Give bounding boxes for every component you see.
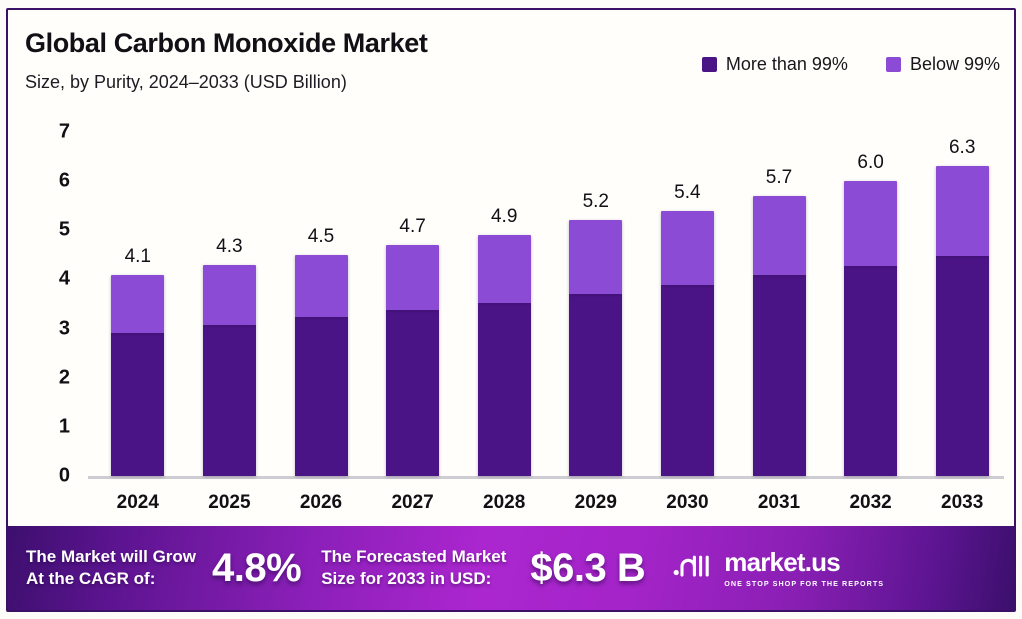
market-us-logo[interactable]: market.us ONE STOP SHOP FOR THE REPORTS — [673, 549, 884, 588]
bar-value-label: 4.3 — [216, 236, 242, 258]
bar-segment-below-99[interactable] — [386, 245, 439, 310]
y-axis-tick-label: 0 — [59, 465, 70, 488]
forecast-caption-line1: The Forecasted Market — [321, 546, 506, 568]
summary-banner: The Market will Grow At the CAGR of: 4.8… — [8, 526, 1014, 610]
bar-value-label: 5.7 — [766, 167, 792, 189]
x-axis-tick-label: 2026 — [300, 492, 342, 514]
y-axis-tick-label: 5 — [59, 219, 70, 242]
cagr-value: 4.8% — [212, 546, 301, 591]
y-axis-tick-label: 7 — [59, 121, 70, 144]
infographic-root: Global Carbon Monoxide Market Size, by P… — [0, 0, 1022, 619]
forecast-caption-line2: Size for 2033 in USD: — [321, 568, 506, 590]
market-us-wordmark: market.us ONE STOP SHOP FOR THE REPORTS — [724, 549, 884, 588]
legend-swatch-icon — [702, 57, 717, 72]
bar-segment-more-than-99[interactable] — [111, 333, 164, 476]
bar-segment-below-99[interactable] — [569, 220, 622, 293]
x-axis-tick-label: 2031 — [758, 492, 800, 514]
x-axis-tick-label: 2024 — [117, 492, 159, 514]
x-axis-tick-label: 2028 — [483, 492, 525, 514]
legend-label: More than 99% — [726, 54, 848, 75]
bar-segment-more-than-99[interactable] — [753, 275, 806, 476]
y-axis: 01234567 — [8, 102, 88, 520]
cagr-caption: The Market will Grow At the CAGR of: — [26, 546, 196, 590]
y-axis-tick-label: 6 — [59, 170, 70, 193]
bar-value-label: 4.9 — [491, 206, 517, 228]
bar-segment-below-99[interactable] — [203, 265, 256, 325]
chart-card: Global Carbon Monoxide Market Size, by P… — [6, 8, 1016, 612]
x-axis-tick-label: 2025 — [208, 492, 250, 514]
chart-subtitle: Size, by Purity, 2024–2033 (USD Billion) — [25, 72, 347, 93]
x-axis-tick-label: 2032 — [849, 492, 891, 514]
cagr-caption-line1: The Market will Grow — [26, 546, 196, 568]
bar-segment-below-99[interactable] — [844, 181, 897, 266]
chart-title: Global Carbon Monoxide Market — [25, 28, 427, 59]
x-axis-tick-label: 2029 — [575, 492, 617, 514]
plot-area: 01234567 4.120244.320254.520264.720274.9… — [8, 102, 1014, 520]
y-axis-tick-label: 4 — [59, 268, 70, 291]
bar-value-label: 4.5 — [308, 226, 334, 248]
bar-value-label: 6.0 — [857, 152, 883, 174]
chart-header: Global Carbon Monoxide Market Size, by P… — [8, 10, 1014, 102]
bar-column[interactable]: 6.32033 — [936, 166, 989, 476]
forecast-caption: The Forecasted Market Size for 2033 in U… — [321, 546, 506, 590]
y-axis-tick-label: 3 — [59, 317, 70, 340]
bar-column[interactable]: 5.72031 — [753, 196, 806, 476]
bar-column[interactable]: 4.72027 — [386, 245, 439, 476]
bar-column[interactable]: 4.92028 — [478, 235, 531, 476]
bar-segment-more-than-99[interactable] — [844, 266, 897, 476]
bar-column[interactable]: 4.52026 — [295, 255, 348, 476]
bar-segment-below-99[interactable] — [111, 275, 164, 333]
bar-segment-below-99[interactable] — [295, 255, 348, 317]
cagr-caption-line2: At the CAGR of: — [26, 568, 196, 590]
bar-segment-below-99[interactable] — [661, 211, 714, 286]
bar-segment-more-than-99[interactable] — [936, 256, 989, 476]
bars-container: 4.120244.320254.520264.720274.920285.220… — [88, 102, 1004, 520]
legend-item: More than 99% — [702, 54, 848, 75]
bar-segment-more-than-99[interactable] — [569, 294, 622, 476]
bar-value-label: 6.3 — [949, 137, 975, 159]
bar-column[interactable]: 6.02032 — [844, 181, 897, 476]
x-axis-tick-label: 2030 — [666, 492, 708, 514]
x-axis-tick-label: 2027 — [391, 492, 433, 514]
bar-column[interactable]: 4.12024 — [111, 275, 164, 476]
bar-value-label: 5.2 — [583, 191, 609, 213]
bar-segment-more-than-99[interactable] — [478, 303, 531, 476]
bar-value-label: 4.7 — [399, 216, 425, 238]
bar-column[interactable]: 5.22029 — [569, 220, 622, 476]
bar-segment-below-99[interactable] — [478, 235, 531, 302]
bar-segment-more-than-99[interactable] — [661, 285, 714, 476]
x-axis-tick-label: 2033 — [941, 492, 983, 514]
bar-segment-more-than-99[interactable] — [386, 310, 439, 476]
legend-label: Below 99% — [910, 54, 1000, 75]
bar-segment-more-than-99[interactable] — [295, 317, 348, 476]
y-axis-tick-label: 2 — [59, 366, 70, 389]
bar-segment-below-99[interactable] — [936, 166, 989, 256]
y-axis-tick-label: 1 — [59, 415, 70, 438]
bar-segment-below-99[interactable] — [753, 196, 806, 275]
bar-column[interactable]: 5.42030 — [661, 211, 714, 476]
legend-swatch-icon — [886, 57, 901, 72]
chart-legend: More than 99%Below 99% — [702, 54, 1000, 75]
market-us-word: market.us — [724, 547, 840, 577]
bar-segment-more-than-99[interactable] — [203, 325, 256, 476]
bar-value-label: 4.1 — [125, 246, 151, 268]
market-us-monogram-icon — [673, 551, 715, 586]
market-us-tagline: ONE STOP SHOP FOR THE REPORTS — [724, 579, 884, 588]
bar-column[interactable]: 4.32025 — [203, 265, 256, 476]
legend-item: Below 99% — [886, 54, 1000, 75]
bar-value-label: 5.4 — [674, 182, 700, 204]
forecast-value: $6.3 B — [530, 546, 645, 591]
